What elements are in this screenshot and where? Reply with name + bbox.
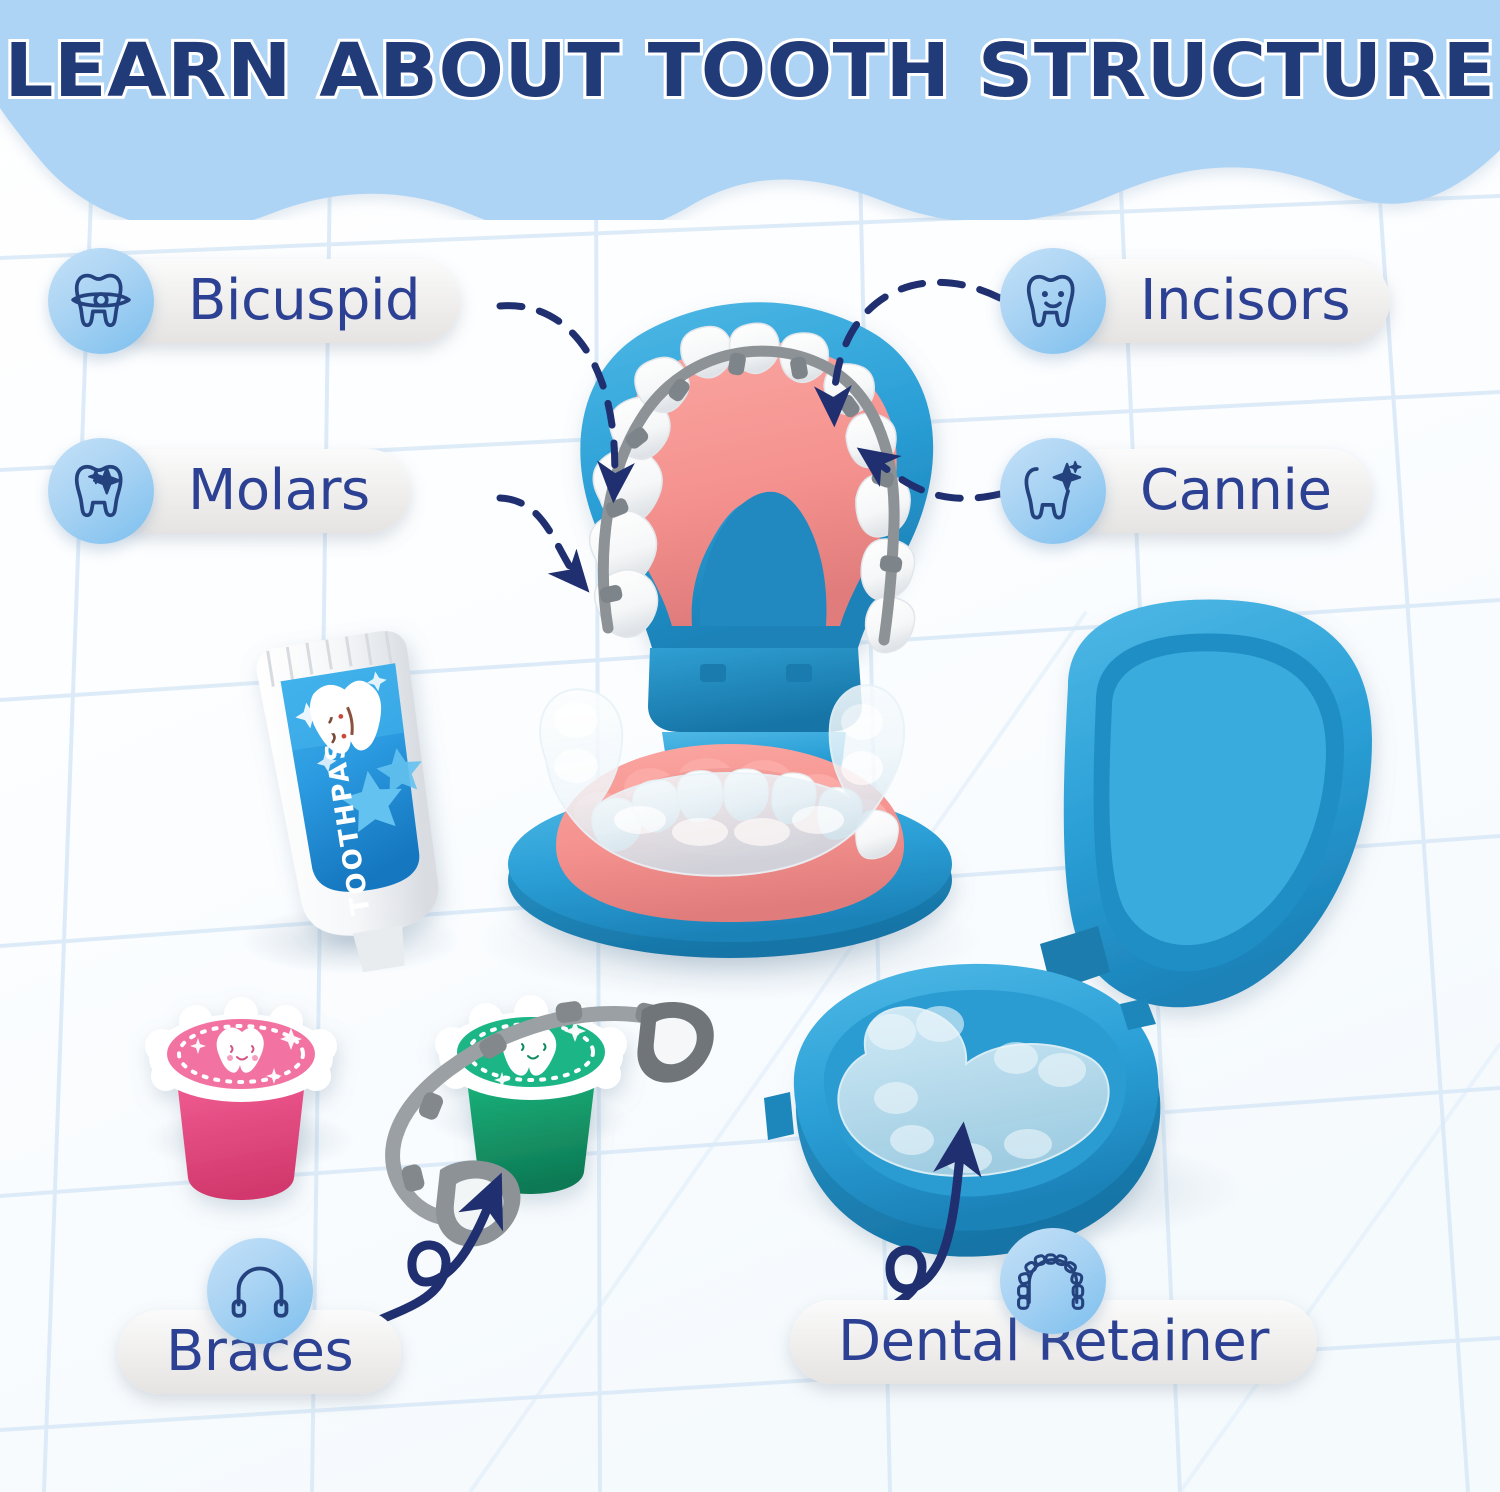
tooth-sparkle-icon bbox=[48, 438, 154, 544]
label-incisors[interactable]: Incisors bbox=[1000, 248, 1390, 354]
label-cannie[interactable]: Cannie bbox=[1000, 438, 1371, 544]
label-molars[interactable]: Molars bbox=[48, 438, 410, 544]
cannie-pill[interactable]: Cannie bbox=[1060, 449, 1371, 533]
braces-archwire-icon bbox=[207, 1238, 313, 1344]
bicuspid-label: Bicuspid bbox=[188, 273, 420, 329]
incisors-pill[interactable]: Incisors bbox=[1060, 259, 1390, 343]
incisors-label: Incisors bbox=[1140, 273, 1350, 329]
bicuspid-pill[interactable]: Bicuspid bbox=[108, 259, 460, 343]
tooth-with-braces-icon bbox=[48, 248, 154, 354]
pink-cup bbox=[145, 997, 337, 1200]
molars-label: Molars bbox=[188, 463, 370, 519]
label-dental-retainer[interactable]: Dental Retainer bbox=[790, 1228, 1317, 1384]
bracket-band-left bbox=[436, 1161, 521, 1247]
infographic-canvas: LEARN ABOUT TOOTH STRUCTURE bbox=[0, 0, 1500, 1492]
label-bicuspid[interactable]: Bicuspid bbox=[48, 248, 460, 354]
happy-tooth-face-icon bbox=[1000, 248, 1106, 354]
label-braces[interactable]: Braces bbox=[118, 1238, 401, 1394]
dental-arch-brackets-icon bbox=[1000, 1228, 1106, 1334]
bracket-band-right bbox=[637, 1002, 713, 1083]
cannie-label: Cannie bbox=[1140, 463, 1331, 519]
tooth-shine-icon bbox=[1000, 438, 1106, 544]
